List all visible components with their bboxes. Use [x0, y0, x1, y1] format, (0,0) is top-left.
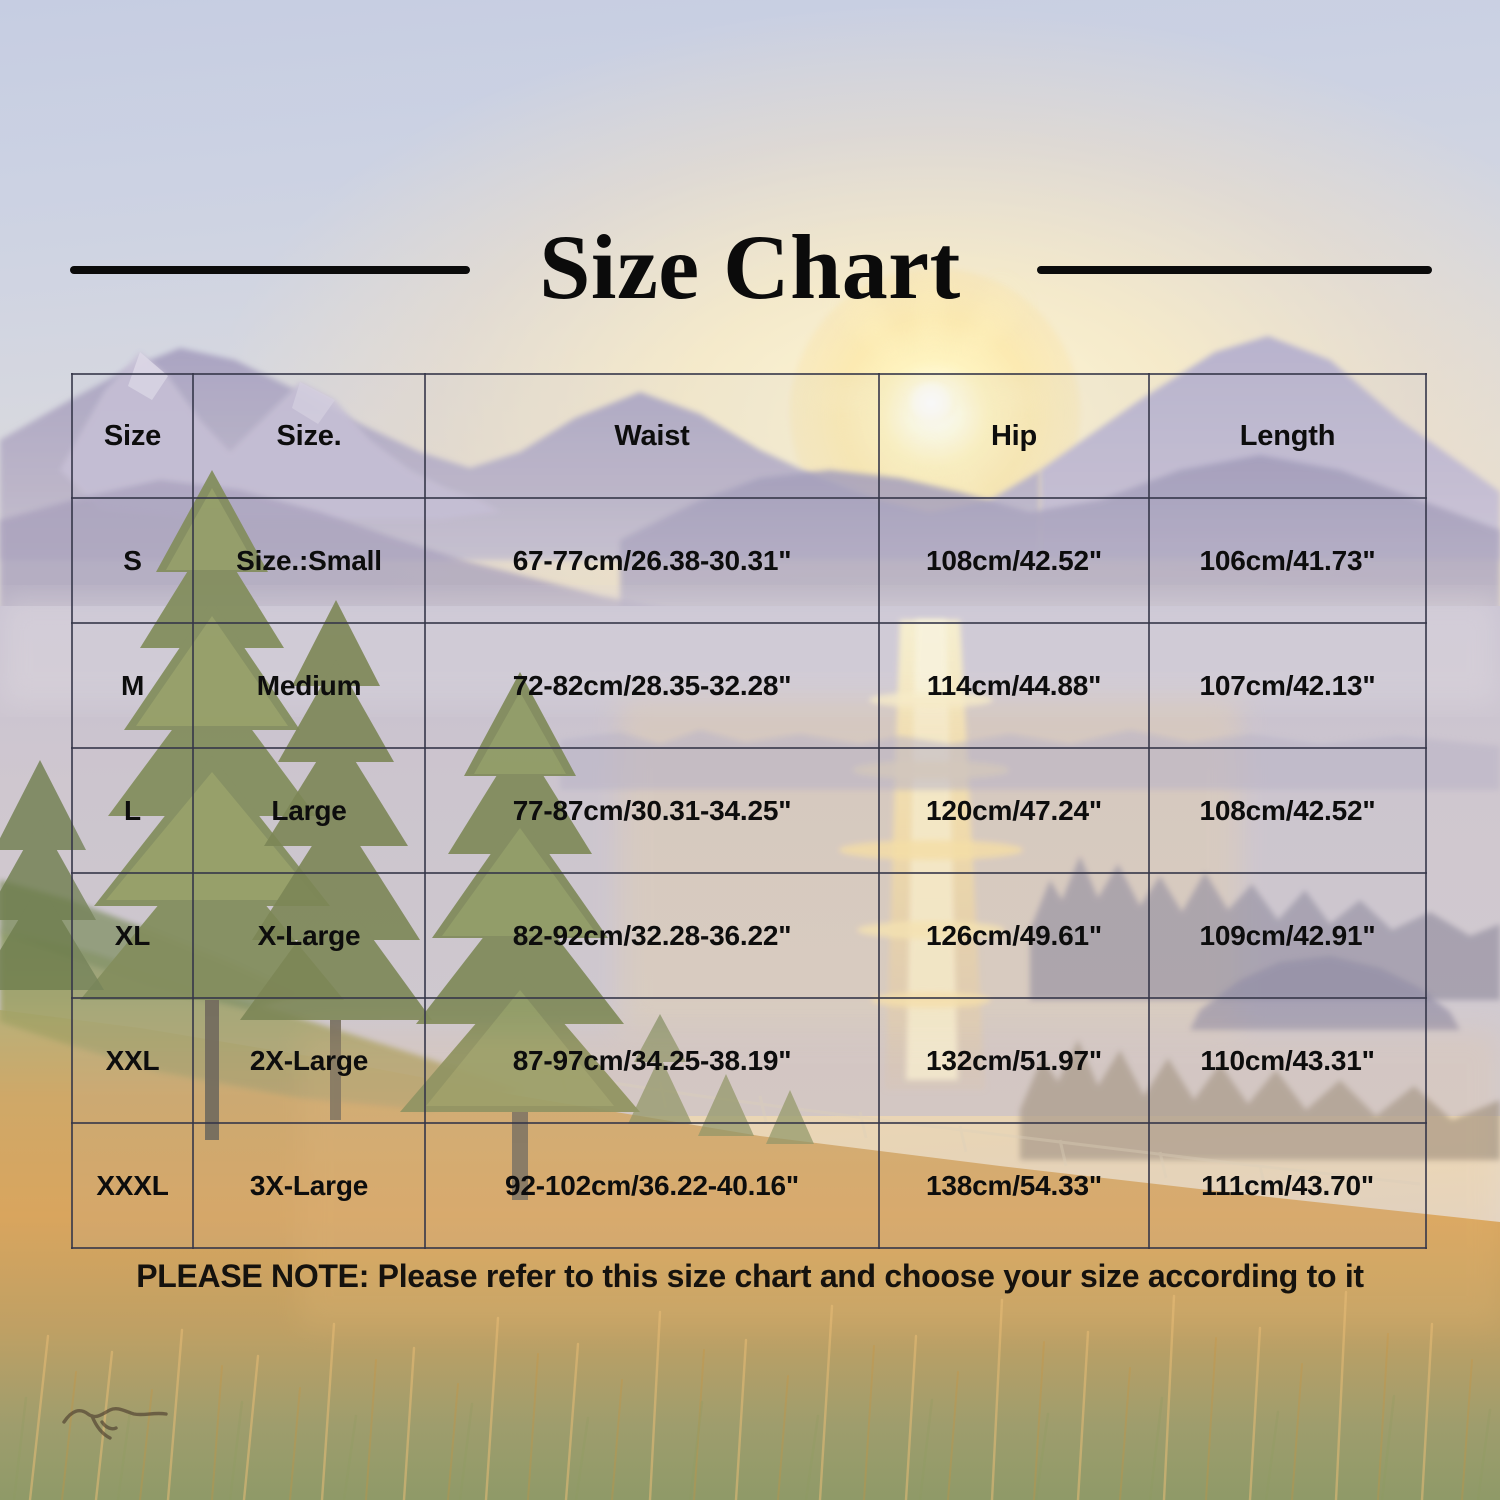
cell-size-name: Medium [193, 623, 425, 748]
cell-waist: 77-87cm/30.31-34.25" [425, 748, 879, 873]
cell-waist: 87-97cm/34.25-38.19" [425, 998, 879, 1123]
cell-hip: 126cm/49.61" [879, 873, 1149, 998]
please-note-text: PLEASE NOTE: Please refer to this size c… [0, 1258, 1500, 1295]
cell-hip: 132cm/51.97" [879, 998, 1149, 1123]
cell-hip: 120cm/47.24" [879, 748, 1149, 873]
column-header-size-name: Size. [193, 374, 425, 498]
size-chart-table-container: Size Size. Waist Hip Length S Size.:Smal… [71, 373, 1425, 1232]
cell-size: XL [72, 873, 193, 998]
table-row: XXL 2X-Large 87-97cm/34.25-38.19" 132cm/… [72, 998, 1426, 1123]
column-header-hip: Hip [879, 374, 1149, 498]
cell-length: 110cm/43.31" [1149, 998, 1426, 1123]
title-block: Size Chart [0, 212, 1500, 332]
column-header-size: Size [72, 374, 193, 498]
cell-waist: 72-82cm/28.35-32.28" [425, 623, 879, 748]
cell-length: 106cm/41.73" [1149, 498, 1426, 623]
cell-waist: 67-77cm/26.38-30.31" [425, 498, 879, 623]
size-chart-graphic: Size Chart Size Size. Waist Hip Length S [0, 0, 1500, 1500]
table-row: XL X-Large 82-92cm/32.28-36.22" 126cm/49… [72, 873, 1426, 998]
cell-hip: 114cm/44.88" [879, 623, 1149, 748]
cell-hip: 138cm/54.33" [879, 1123, 1149, 1248]
cell-size: XXXL [72, 1123, 193, 1248]
cell-length: 107cm/42.13" [1149, 623, 1426, 748]
cell-length: 111cm/43.70" [1149, 1123, 1426, 1248]
table-row: S Size.:Small 67-77cm/26.38-30.31" 108cm… [72, 498, 1426, 623]
table-header-row: Size Size. Waist Hip Length [72, 374, 1426, 498]
cell-length: 109cm/42.91" [1149, 873, 1426, 998]
cell-size: M [72, 623, 193, 748]
cell-size-name: 3X-Large [193, 1123, 425, 1248]
cell-hip: 108cm/42.52" [879, 498, 1149, 623]
cell-size-name: Large [193, 748, 425, 873]
cell-size: XXL [72, 998, 193, 1123]
cell-length: 108cm/42.52" [1149, 748, 1426, 873]
size-chart-table: Size Size. Waist Hip Length S Size.:Smal… [71, 373, 1427, 1249]
cell-waist: 82-92cm/32.28-36.22" [425, 873, 879, 998]
cell-size-name: 2X-Large [193, 998, 425, 1123]
cell-size: L [72, 748, 193, 873]
cell-size-name: X-Large [193, 873, 425, 998]
artist-signature [58, 1388, 248, 1448]
column-header-waist: Waist [425, 374, 879, 498]
cell-size-name: Size.:Small [193, 498, 425, 623]
cell-waist: 92-102cm/36.22-40.16" [425, 1123, 879, 1248]
table-row: L Large 77-87cm/30.31-34.25" 120cm/47.24… [72, 748, 1426, 873]
column-header-length: Length [1149, 374, 1426, 498]
cell-size: S [72, 498, 193, 623]
title-rule-right [1037, 266, 1432, 274]
table-row: M Medium 72-82cm/28.35-32.28" 114cm/44.8… [72, 623, 1426, 748]
table-row: XXXL 3X-Large 92-102cm/36.22-40.16" 138c… [72, 1123, 1426, 1248]
